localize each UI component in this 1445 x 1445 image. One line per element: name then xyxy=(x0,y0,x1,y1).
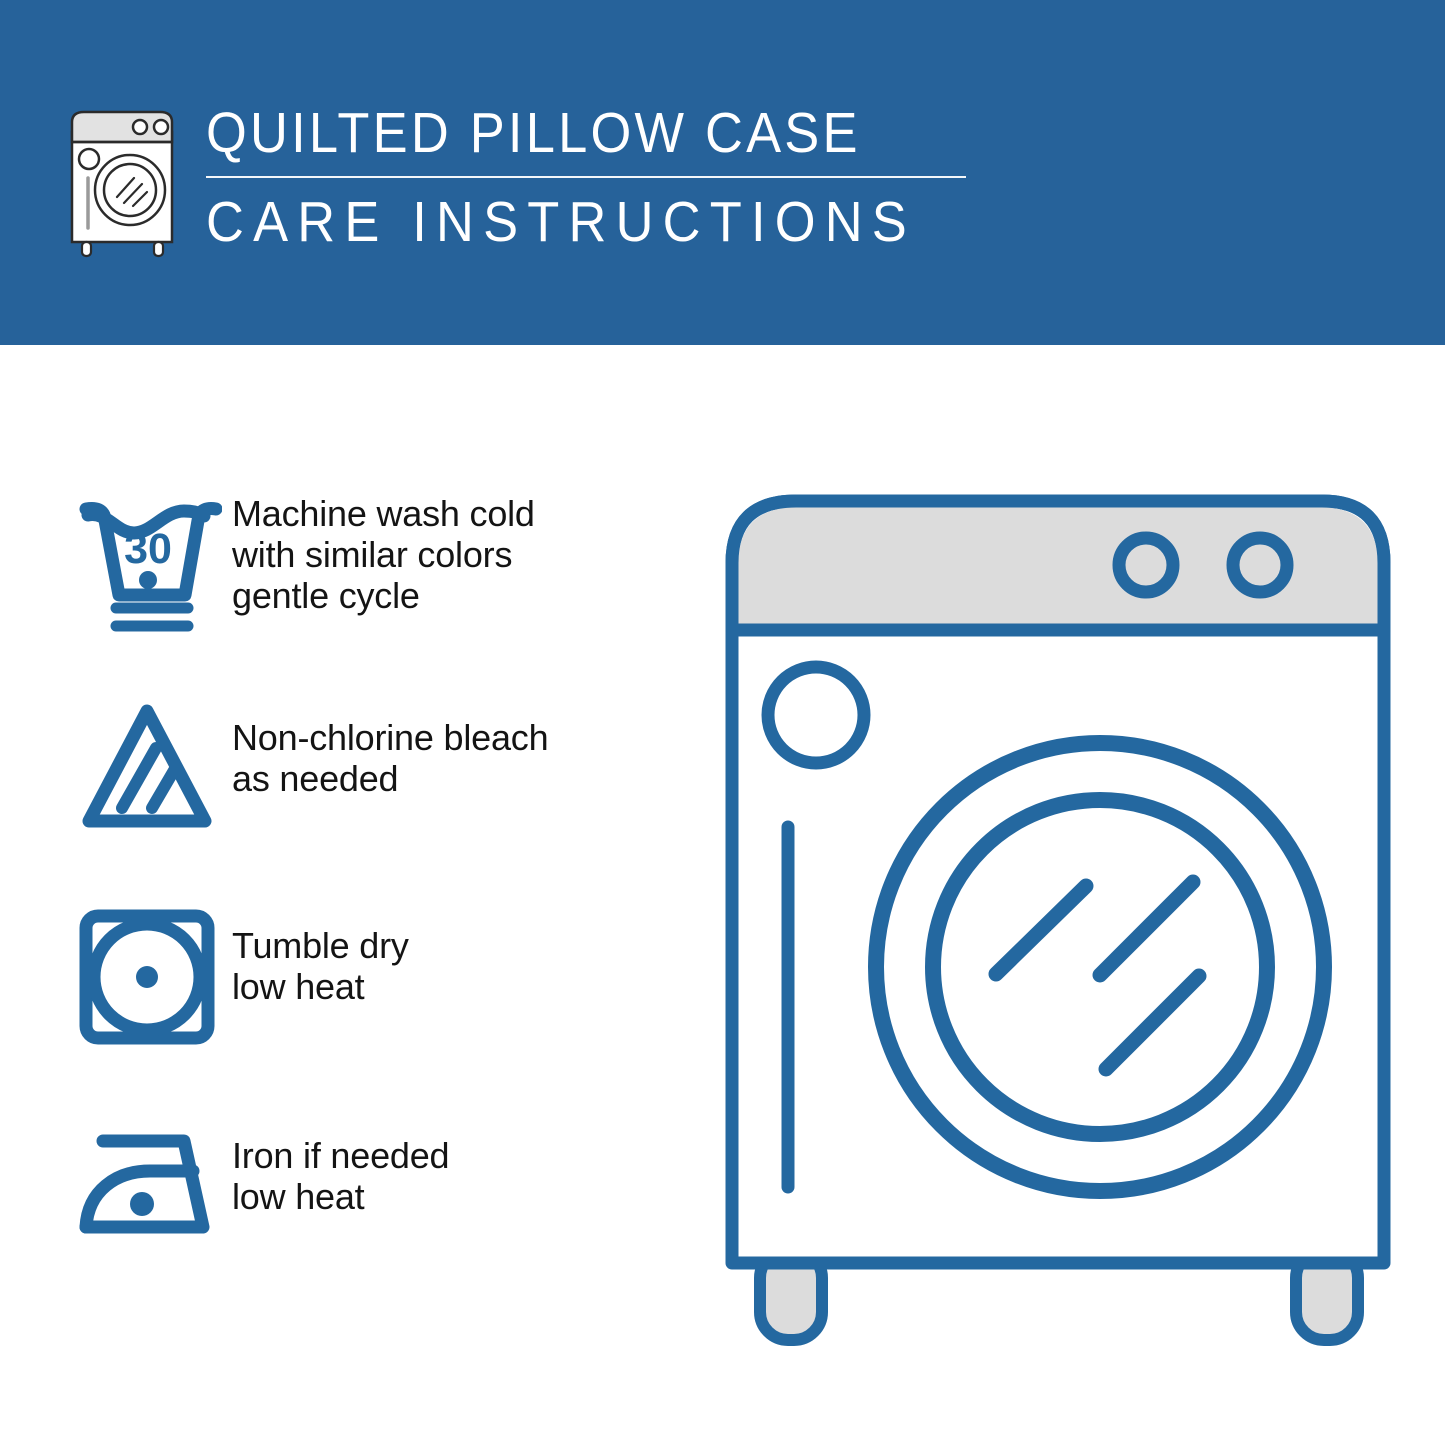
header-banner: QUILTED PILLOW CASE CARE INSTRUCTIONS xyxy=(0,0,1445,345)
control-knob-left xyxy=(1119,538,1173,592)
care-row-tumble-dry: Tumble dry low heat xyxy=(72,901,692,1051)
iron-low-heat-icon xyxy=(72,1109,232,1259)
care-row-bleach: Non-chlorine bleach as needed xyxy=(72,693,692,843)
care-label-machine-wash: Machine wash cold with similar colors ge… xyxy=(232,485,692,616)
washing-machine-logo-icon xyxy=(62,102,184,258)
care-label-tumble-dry: Tumble dry low heat xyxy=(232,901,692,1007)
care-row-machine-wash: 30 Machine wash cold with similar colors… xyxy=(72,485,692,635)
content-area: 30 Machine wash cold with similar colors… xyxy=(0,345,1445,1445)
header-divider xyxy=(206,176,966,178)
header-content: QUILTED PILLOW CASE CARE INSTRUCTIONS xyxy=(62,98,978,258)
washing-machine-illustration xyxy=(718,475,1398,1355)
non-chlorine-bleach-triangle-icon xyxy=(72,693,232,843)
care-instruction-list: 30 Machine wash cold with similar colors… xyxy=(72,485,692,1317)
wash-tub-30-icon: 30 xyxy=(72,485,232,635)
care-label-bleach: Non-chlorine bleach as needed xyxy=(232,693,692,799)
care-label-iron: Iron if needed low heat xyxy=(232,1109,692,1217)
page-subtitle: CARE INSTRUCTIONS xyxy=(206,192,916,252)
detergent-port-circle xyxy=(768,667,864,763)
header-text-block: QUILTED PILLOW CASE CARE INSTRUCTIONS xyxy=(206,98,978,252)
care-row-iron: Iron if needed low heat xyxy=(72,1109,692,1259)
page-title: QUILTED PILLOW CASE xyxy=(206,102,916,164)
wash-temperature-value: 30 xyxy=(124,525,172,573)
control-knob-right xyxy=(1233,538,1287,592)
tumble-dry-low-icon xyxy=(72,901,232,1051)
